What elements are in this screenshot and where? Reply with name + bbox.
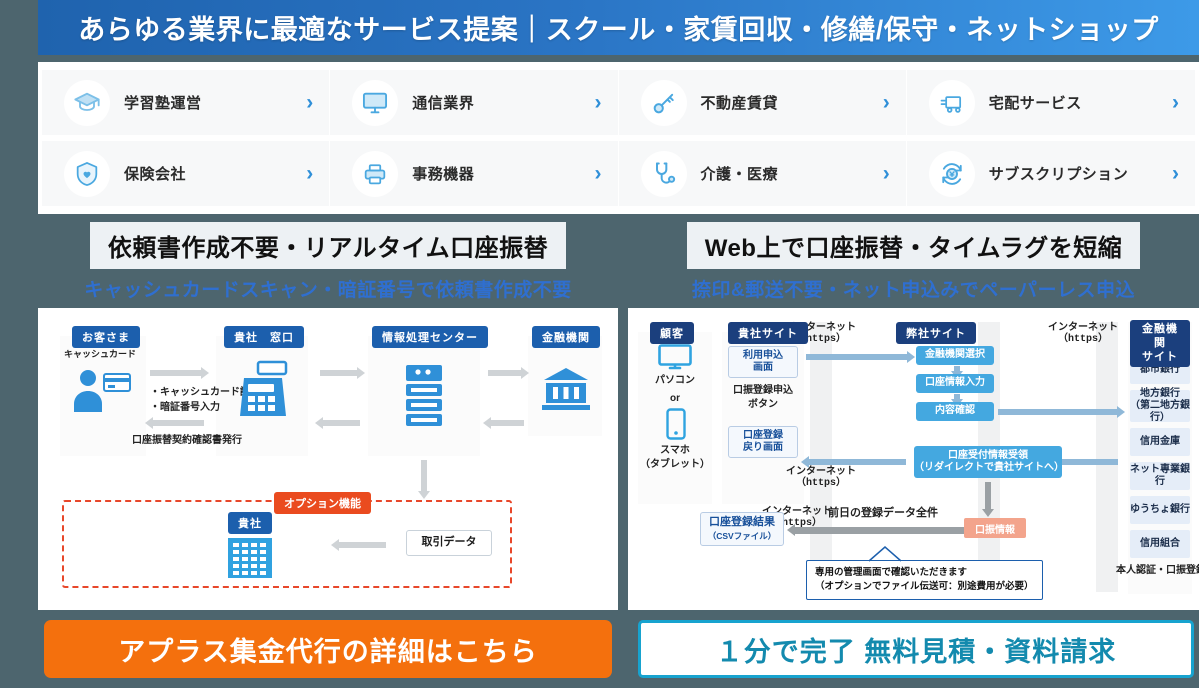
desktop-icon [658, 344, 692, 377]
industry-card-cram-school[interactable]: 学習塾運営 › [42, 70, 330, 135]
arrow-bank-to-center [490, 420, 524, 426]
industry-card-delivery[interactable]: 宅配サービス › [907, 70, 1195, 135]
chevron-right-icon[interactable]: › [595, 163, 602, 184]
arrow-data-to-company [338, 542, 386, 548]
industry-label: 不動産賃貸 [701, 92, 869, 113]
server-icon [402, 363, 446, 432]
industry-label: 宅配サービス [989, 92, 1158, 113]
apply-screen-box[interactable]: 利用申込 画面 [728, 346, 798, 378]
truck-icon [929, 80, 975, 126]
column-tag-your-site: 貴社サイト [728, 322, 808, 344]
arrow-center-to-bank [488, 370, 522, 376]
chevron-right-icon[interactable]: › [1172, 163, 1179, 184]
section-subtitle-right: 捺印&郵送不要・ネット申込みでペーパーレス申込 [628, 275, 1199, 302]
bank-item-japanpost[interactable]: ゆうちょ銀行 [1130, 496, 1190, 524]
page-title: あらゆる業界に最適なサービス提案｜スクール・家賃回収・修繕/保守・ネットショップ [78, 8, 1159, 47]
industry-label: 介護・医療 [701, 163, 869, 184]
callout-line-2: （オプションでファイル伝送可：別途費用が必要） [815, 580, 1034, 594]
key-icon [641, 80, 687, 126]
arrow-counter-to-center [320, 370, 358, 376]
cash-card-caption: キャッシュカード [64, 348, 136, 360]
cta-button-right[interactable]: １分で完了 無料見積・資料請求 [638, 620, 1194, 678]
management-screen-callout: 専用の管理画面で確認いただきます （オプションでファイル伝送可：別途費用が必要） [806, 560, 1043, 600]
bank-icon [540, 366, 592, 417]
bank-item-shinkin[interactable]: 信用金庫 [1130, 428, 1190, 456]
account-receipt-box: 口座受付情報受領 （リダイレクトで貴社サイトへ） [914, 446, 1062, 478]
chevron-right-icon[interactable]: › [1172, 92, 1179, 113]
callout-pointer-icon [868, 546, 902, 562]
internet-lane-1 [810, 322, 832, 592]
person-card-icon [68, 364, 134, 425]
bank-item-credit-union[interactable]: 信用組合 [1130, 530, 1190, 558]
bank-site-footer-note: 本人認証・口振登録 [1116, 564, 1199, 578]
column-tag-bank-site: 金融機関 サイト [1130, 320, 1190, 367]
graduation-cap-icon [64, 80, 110, 126]
industry-card-insurance[interactable]: 保険会社 › [42, 141, 330, 206]
return-note: 口座振替契約確認書発行 [132, 434, 242, 448]
chevron-right-icon[interactable]: › [883, 92, 890, 113]
internet-lane-3 [1096, 322, 1118, 592]
page-header-banner: あらゆる業界に最適なサービス提案｜スクール・家賃回収・修繕/保守・ネットショップ [38, 0, 1199, 55]
arrow-center-down [421, 460, 427, 492]
card-reader-icon [236, 360, 292, 427]
step-enter-account[interactable]: 口座情報入力 [916, 374, 994, 393]
callout-line-1: 専用の管理画面で確認いただきます [815, 566, 1034, 580]
stethoscope-icon [641, 151, 687, 197]
diagram-left: お客さま 貴社 窓口 情報処理センター 金融機関 キャッシュカード ・キャッシュ… [38, 308, 618, 610]
arrow-counter-to-customer [152, 420, 204, 426]
bank-item-regional[interactable]: 地方銀行 （第二地方銀行） [1130, 390, 1190, 422]
printer-icon [352, 151, 398, 197]
flow-note-2: ・暗証番号入力 [150, 401, 220, 415]
arrow-confirm-to-bank-site [998, 409, 1118, 415]
internet-label-3-line2: （https） [778, 477, 864, 491]
column-tag-customer: お客さま [72, 326, 140, 348]
building-icon [226, 536, 274, 585]
column-tag-center: 情報処理センター [372, 326, 488, 348]
arrow-your-site-to-our-site [806, 354, 908, 360]
industry-card-care-medical[interactable]: 介護・医療 › [619, 141, 907, 206]
industry-grid: 学習塾運営 › 通信業界 › 不動産賃貸 › [38, 62, 1199, 214]
industry-card-real-estate[interactable]: 不動産賃貸 › [619, 70, 907, 135]
diagram-right: 顧客 パソコン or スマホ （タブレット） 貴社サイト 利用申込 画面 口振登… [628, 308, 1199, 610]
chevron-right-icon[interactable]: › [595, 92, 602, 113]
chevron-right-icon[interactable]: › [306, 163, 313, 184]
industry-label: 通信業界 [412, 92, 580, 113]
column-tag-customer: 顧客 [650, 322, 694, 344]
account-result-title: 口座登録結果 [709, 516, 775, 530]
account-result-subtitle: （CSVファイル） [708, 531, 776, 542]
return-screen-box[interactable]: 口座登録 戻り画面 [728, 426, 798, 458]
page-root: あらゆる業界に最適なサービス提案｜スクール・家賃回収・修繕/保守・ネットショップ… [0, 0, 1199, 688]
account-receipt-line2: （リダイレクトで貴社サイトへ） [914, 462, 1062, 475]
chevron-right-icon[interactable]: › [306, 92, 313, 113]
industry-label: 学習塾運営 [124, 92, 292, 113]
internet-label-2-line2: （https） [1040, 333, 1126, 347]
register-button-note: 口振登録申込 ボタン [722, 384, 804, 412]
cta-button-left[interactable]: アプラス集金代行の詳細はこちら [44, 620, 612, 678]
shield-heart-icon [64, 151, 110, 197]
section-subtitle-left: キャッシュカードスキャン・暗証番号で依頼書作成不要 [38, 275, 618, 302]
industry-label: 事務機器 [412, 163, 580, 184]
industry-label: サブスクリプション [989, 163, 1158, 184]
mobile-sublabel: （タブレット） [638, 458, 712, 472]
arrow-daily-data-transfer [794, 527, 984, 534]
transaction-data-box: 取引データ [406, 530, 492, 556]
daily-data-label: 前日の登録データ全件 [828, 506, 938, 521]
arrow-center-to-counter [322, 420, 360, 426]
column-tag-counter: 貴社 窓口 [224, 326, 304, 348]
arrow-customer-to-counter [150, 370, 202, 376]
section-heading-left: 依頼書作成不要・リアルタイム口座振替 キャッシュカードスキャン・暗証番号で依頼書… [38, 222, 618, 302]
column-tag-bank: 金融機関 [532, 326, 600, 348]
section-title-left: 依頼書作成不要・リアルタイム口座振替 [90, 222, 566, 269]
yen-recycle-icon [929, 151, 975, 197]
industry-label: 保険会社 [124, 163, 292, 184]
chevron-right-icon[interactable]: › [883, 163, 890, 184]
section-title-right: Web上で口座振替・タイムラグを短縮 [687, 222, 1141, 269]
section-heading-right: Web上で口座振替・タイムラグを短縮 捺印&郵送不要・ネット申込みでペーパーレス… [628, 222, 1199, 302]
industry-card-telecom[interactable]: 通信業界 › [330, 70, 618, 135]
account-result-box: 口座登録結果 （CSVファイル） [700, 512, 784, 546]
smartphone-icon [666, 408, 686, 445]
arrow-step1-to-step2 [954, 366, 960, 372]
bank-item-online[interactable]: ネット専業銀行 [1130, 462, 1190, 490]
or-label: or [638, 392, 712, 406]
step-select-bank[interactable]: 金融機関選択 [916, 346, 994, 365]
arrow-step2-to-step3 [954, 394, 960, 400]
monitor-icon [352, 80, 398, 126]
column-tag-our-site: 弊社サイト [896, 322, 976, 344]
step-confirm[interactable]: 内容確認 [916, 402, 994, 421]
industry-card-office-equipment[interactable]: 事務機器 › [330, 141, 618, 206]
mobile-label: スマホ [638, 444, 712, 458]
account-receipt-line1: 口座受付情報受領 [948, 450, 1028, 463]
arrow-receipt-down [985, 482, 991, 510]
arrow-receipt-to-return-screen [808, 459, 906, 465]
kofuri-info-tag: 口振情報 [964, 518, 1026, 538]
industry-card-subscription[interactable]: サブスクリプション › [907, 141, 1195, 206]
option-company-tag: 貴社 [228, 512, 272, 534]
pc-label: パソコン [638, 374, 712, 388]
option-feature-tag: オプション機能 [274, 492, 371, 514]
